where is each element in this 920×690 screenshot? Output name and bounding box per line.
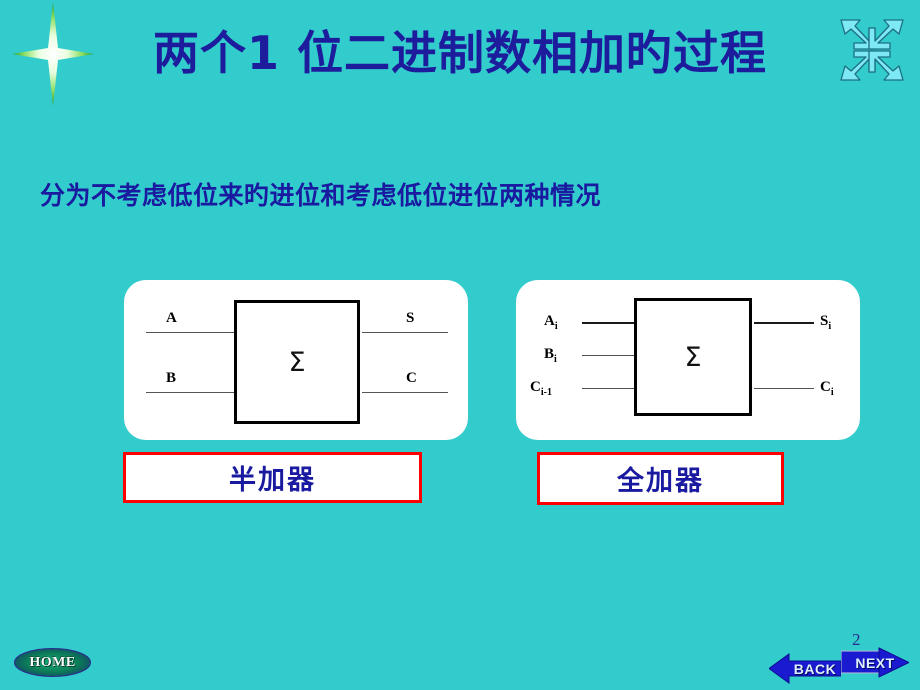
full-adder-output-wire-si (754, 322, 814, 324)
half-adder-panel: Σ A B S C (124, 280, 468, 440)
page-title: 两个1 位二进制数相加旳过程 (110, 22, 810, 84)
half-adder-pin-a: A (166, 310, 177, 327)
full-adder-pin-bi: Bi (544, 346, 557, 365)
full-adder-input-wire-bi (582, 355, 636, 356)
full-adder-output-wire-ci (754, 388, 814, 389)
full-adder-pin-ai: Ai (544, 313, 558, 332)
half-adder-output-wire-s (362, 332, 448, 333)
half-adder-sigma-block: Σ (234, 300, 360, 424)
home-button[interactable]: HOME (14, 648, 91, 677)
full-adder-pin-cim1: Ci-1 (530, 379, 552, 398)
full-adder-panel: Σ Ai Bi Ci-1 Si Ci (516, 280, 860, 440)
full-adder-pin-si: Si (820, 313, 831, 332)
next-arrow-icon (841, 646, 909, 679)
next-button[interactable]: NEXT (841, 646, 909, 679)
back-arrow-icon (769, 652, 841, 685)
half-adder-output-wire-c (362, 392, 448, 393)
full-adder-pin-ci: Ci (820, 379, 834, 398)
half-adder-pin-s: S (406, 310, 414, 327)
home-button-label: HOME (14, 648, 91, 677)
half-adder-pin-c: C (406, 370, 417, 387)
four-arrows-inward-icon (836, 16, 908, 84)
back-button[interactable]: BACK (769, 652, 841, 685)
slide-canvas: 两个1 位二进制数相加旳过程 分为不考虑低位来旳进位和考虑低位进位两种情况 Σ … (0, 0, 920, 690)
half-adder-caption: 半加器 (123, 452, 422, 503)
half-adder-sigma-symbol: Σ (288, 347, 305, 378)
full-adder-input-wire-cim1 (582, 388, 636, 389)
half-adder-pin-b: B (166, 370, 176, 387)
full-adder-sigma-block: Σ (634, 298, 752, 416)
full-adder-caption: 全加器 (537, 452, 784, 505)
subtitle-text: 分为不考虑低位来旳进位和考虑低位进位两种情况 (40, 176, 601, 212)
full-adder-input-wire-ai (582, 322, 636, 324)
full-adder-sigma-symbol: Σ (684, 342, 701, 373)
sparkle-star-icon (12, 2, 94, 106)
